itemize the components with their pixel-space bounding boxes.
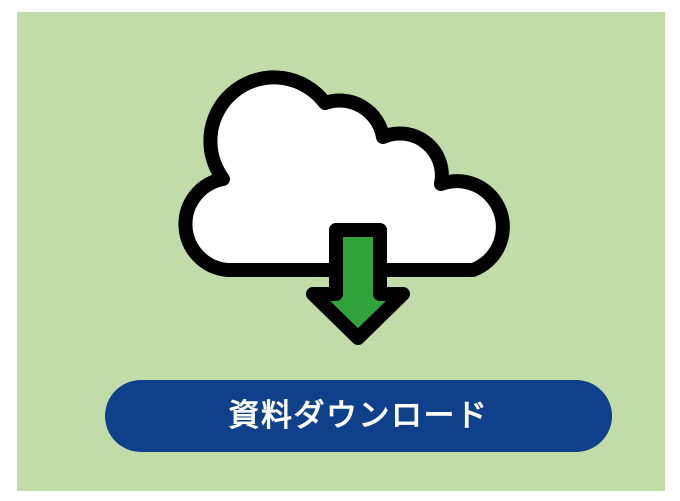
download-card: 資料ダウンロード: [17, 12, 665, 491]
cloud-download-svg: [197, 82, 517, 347]
download-button[interactable]: 資料ダウンロード: [105, 380, 612, 452]
download-button-label: 資料ダウンロード: [229, 401, 489, 432]
cloud-download-illustration: [197, 82, 517, 347]
page-canvas: 資料ダウンロード: [0, 0, 680, 501]
